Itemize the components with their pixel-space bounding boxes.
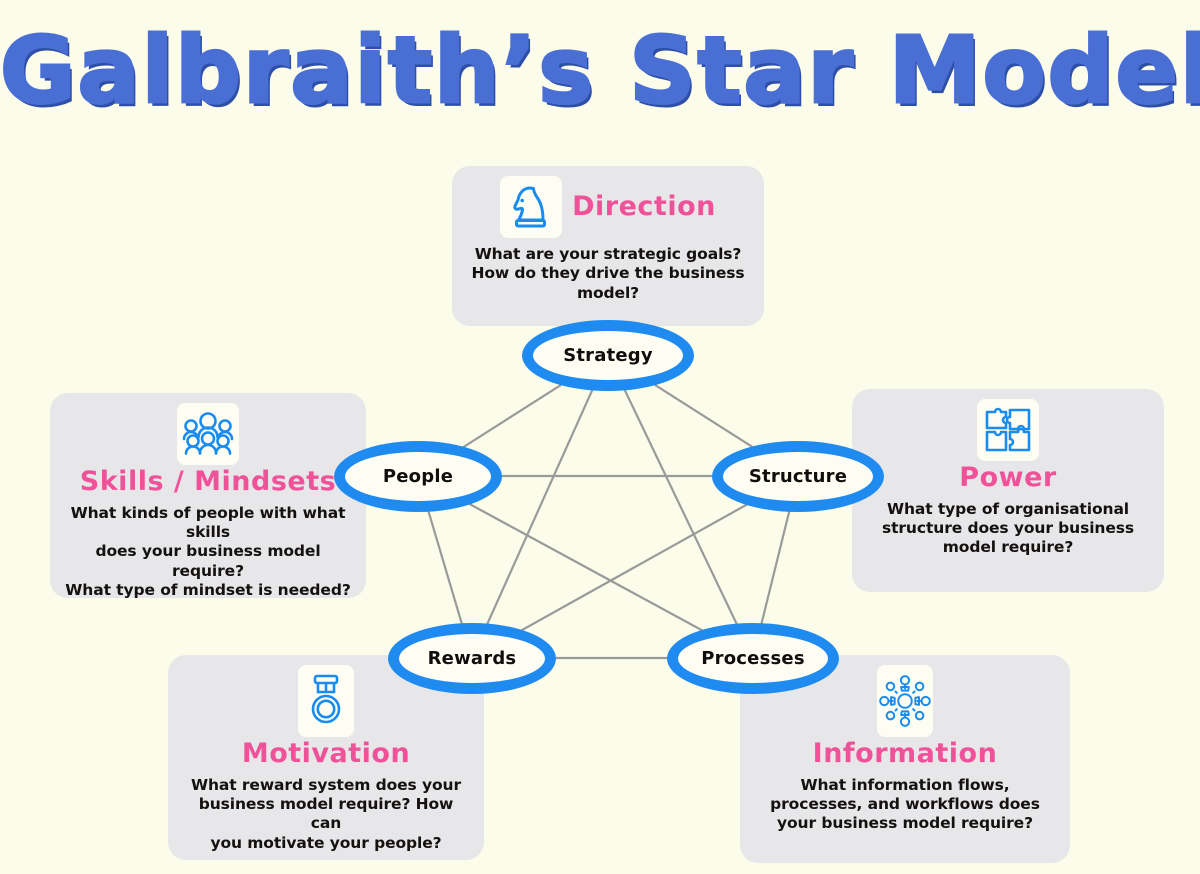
card-skills-line-3: What type of mindset is needed?: [64, 581, 352, 600]
people-group-icon: [177, 403, 239, 465]
card-information-line-1: What information flows,: [770, 776, 1040, 795]
card-direction-body: What are your strategic goals? How do th…: [466, 245, 750, 303]
card-skills-line-1: What kinds of people with what skills: [64, 504, 352, 543]
node-structure[interactable]: Structure: [712, 441, 884, 512]
page-title: Galbraith’s Star Model: [0, 18, 1200, 124]
card-skills-body: What kinds of people with what skills do…: [64, 504, 352, 601]
node-strategy-label: Strategy: [563, 345, 653, 366]
card-power-header: Power: [866, 399, 1150, 493]
card-motivation-line-1: What reward system does your: [182, 776, 470, 795]
node-rewards[interactable]: Rewards: [388, 623, 556, 694]
card-information-title: Information: [813, 739, 998, 769]
edge-strategy-processes: [608, 355, 753, 658]
card-power-line-2: structure does your business: [882, 519, 1134, 538]
card-power-line-3: model require?: [882, 538, 1134, 557]
card-power[interactable]: Power What type of organisational struct…: [852, 389, 1164, 592]
node-structure-label: Structure: [749, 466, 847, 487]
card-power-body: What type of organisational structure do…: [882, 500, 1134, 558]
card-information-line-2: processes, and workflows does: [770, 795, 1040, 814]
node-strategy[interactable]: Strategy: [522, 320, 694, 391]
card-skills[interactable]: Skills / Mindsets What kinds of people w…: [50, 393, 366, 598]
card-direction-line-2: How do they drive the business model?: [466, 264, 750, 303]
node-people-label: People: [383, 466, 453, 487]
node-rewards-label: Rewards: [428, 648, 517, 669]
card-direction-header: Direction: [466, 176, 750, 238]
card-information-line-3: your business model require?: [770, 814, 1040, 833]
puzzle-pieces-icon: [977, 399, 1039, 461]
card-direction-title: Direction: [572, 192, 716, 222]
node-processes-label: Processes: [701, 648, 804, 669]
card-skills-header: Skills / Mindsets: [64, 403, 352, 497]
edge-strategy-rewards: [472, 355, 608, 658]
node-people[interactable]: People: [334, 441, 502, 512]
gear-network-icon: [877, 665, 933, 737]
card-direction-line-1: What are your strategic goals?: [466, 245, 750, 264]
chess-knight-icon: [500, 176, 562, 238]
card-power-title: Power: [959, 463, 1056, 493]
card-motivation-body: What reward system does your business mo…: [182, 776, 470, 854]
card-skills-title: Skills / Mindsets: [80, 467, 336, 497]
medal-icon: [298, 665, 354, 737]
card-motivation-line-2: business model require? How can: [182, 795, 470, 834]
card-motivation-title: Motivation: [242, 739, 410, 769]
card-motivation-line-3: you motivate your people?: [182, 834, 470, 853]
infographic-canvas: Galbraith’s Star Model: [0, 0, 1200, 874]
node-processes[interactable]: Processes: [667, 623, 839, 694]
card-direction[interactable]: Direction What are your strategic goals?…: [452, 166, 764, 326]
card-skills-line-2: does your business model require?: [64, 542, 352, 581]
card-information-body: What information flows, processes, and w…: [770, 776, 1040, 834]
card-power-line-1: What type of organisational: [882, 500, 1134, 519]
